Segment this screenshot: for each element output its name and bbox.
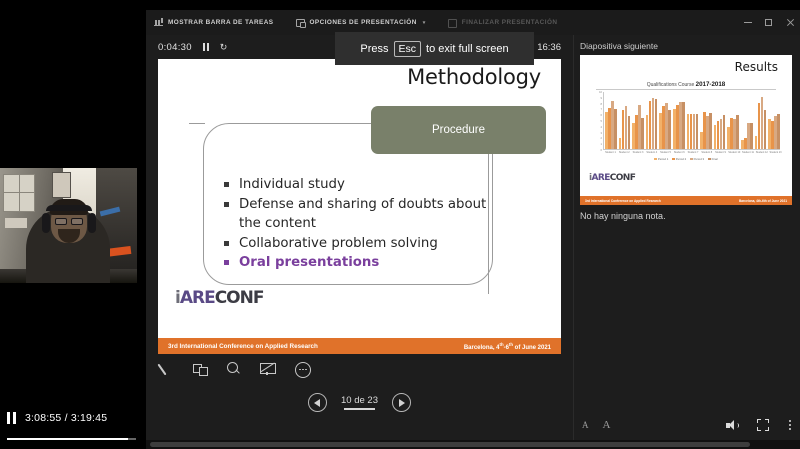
elapsed-timer: 0:04:30	[158, 42, 192, 53]
slide-counter: 10 de 23	[341, 395, 378, 406]
chart-legend-item: Final	[708, 157, 718, 161]
webcam-headphone-right	[88, 213, 96, 233]
chart-bar	[777, 114, 780, 149]
window-minimize-button[interactable]	[737, 10, 758, 35]
chart-bar-group	[700, 92, 712, 149]
window-controls	[737, 10, 800, 35]
chart-x-tick: Student 2	[618, 151, 631, 154]
chart-bar	[655, 99, 658, 149]
logo-part-2: ARE	[592, 173, 610, 183]
chart-x-tick: Student 13	[769, 151, 782, 154]
webcam-poster	[52, 172, 71, 198]
maximize-icon	[765, 19, 772, 26]
chart-legend: Period 1Period 2Period 3Final	[590, 157, 782, 161]
webcam-headphone-band	[46, 205, 92, 211]
pause-icon[interactable]	[7, 412, 16, 424]
chart-bar	[723, 115, 726, 149]
chart-title: Qualifications Course 2017-2018	[590, 81, 782, 88]
video-progress-fill	[7, 438, 128, 440]
chart-title-rule	[596, 89, 776, 90]
chart-bar-group	[741, 92, 753, 149]
webcam-glasses-right	[71, 218, 83, 225]
chart-bar-group	[687, 92, 699, 149]
window-maximize-button[interactable]	[758, 10, 779, 35]
chart-bar	[750, 123, 753, 149]
connector-stub	[189, 123, 205, 124]
toolbar-show-taskbar-label: MOSTRAR BARRA DE TAREAS	[168, 19, 274, 26]
legend-label: Period 2	[676, 157, 686, 161]
video-current-time: 3:08:55	[25, 412, 61, 424]
iareconf-logo: iARECONF	[589, 173, 635, 183]
chart-title-prefix: Qualifications Course	[647, 82, 696, 88]
list-item: Defense and sharing of doubts about the …	[224, 195, 494, 234]
timer-pause-button[interactable]	[203, 43, 209, 51]
next-slide-panel: Diapositiva siguiente Results Qualificat…	[573, 35, 800, 440]
chart-y-tick: 2	[601, 137, 602, 140]
speaker-notes[interactable]: No hay ninguna nota.	[580, 211, 794, 221]
legend-label: Final	[712, 157, 718, 161]
chart-y-tick: 10	[599, 91, 602, 94]
legend-swatch	[708, 158, 711, 161]
speaker-icon[interactable]	[726, 420, 738, 431]
pen-icon[interactable]	[158, 361, 175, 378]
slide-counter-underline	[344, 408, 375, 410]
current-slide[interactable]: Methodology Procedure Individual study	[158, 59, 561, 354]
chart-bar	[668, 110, 671, 149]
exit-fullscreen-toast: Press Esc to exit full screen	[335, 32, 534, 65]
chart-y-tick: 5	[601, 120, 602, 123]
chart-x-tick: Student 3	[632, 151, 645, 154]
presenter-view-body: 0:04:30 ↻ 16:36 Methodology Procedure	[146, 35, 800, 440]
next-slide-title: Results	[735, 60, 778, 74]
footer-location-date: Barcelona, 4th-6th of June 2021	[739, 199, 787, 203]
slide-navigation: 10 de 23	[146, 393, 573, 412]
chart-x-tick: Student 12	[755, 151, 768, 154]
logo-part-2: ARE	[180, 288, 215, 308]
taskbar-icon	[154, 18, 163, 27]
bullet-square-icon	[224, 241, 229, 246]
results-chart: Qualifications Course 2017-2018 10987654…	[590, 81, 782, 179]
procedure-label: Procedure	[432, 124, 485, 136]
legend-swatch	[672, 158, 675, 161]
toast-text-after: to exit full screen	[426, 43, 509, 55]
recording-video-pane[interactable]: 3:08:55 / 3:19:45	[0, 0, 146, 449]
toolbar-show-taskbar[interactable]: MOSTRAR BARRA DE TAREAS	[154, 18, 274, 27]
chevron-down-icon: ▾	[423, 20, 426, 26]
bullet-text: Oral presentations	[239, 253, 379, 273]
chart-bar	[641, 118, 644, 149]
previous-slide-icon[interactable]	[308, 393, 327, 412]
bullet-square-icon	[224, 182, 229, 187]
wall-clock: 16:36	[537, 42, 561, 53]
decrease-font-button[interactable]: A	[582, 420, 589, 430]
footer-month-year: of June 2021	[513, 345, 551, 351]
more-options-icon[interactable]	[294, 361, 311, 378]
chart-y-tick: 4	[601, 126, 602, 129]
kebab-menu-icon[interactable]	[788, 419, 792, 431]
chart-x-tick: Student 1	[604, 151, 617, 154]
video-player-controls[interactable]: 3:08:55 / 3:19:45	[0, 405, 146, 449]
toast-text-before: Press	[360, 43, 388, 55]
video-progress-track[interactable]	[7, 438, 136, 440]
webcam-note	[5, 218, 27, 228]
horizontal-scrollbar[interactable]	[146, 440, 800, 449]
presenter-tools	[158, 361, 311, 378]
chart-legend-item: Period 2	[672, 157, 686, 161]
bullet-square-icon	[224, 202, 229, 207]
footer-conference-name: 3rd International Conference on Applied …	[168, 343, 318, 350]
bullet-square-icon	[224, 260, 229, 265]
iareconf-logo: iARECONF	[175, 288, 263, 308]
webcam-glasses-left	[55, 218, 67, 225]
webcam-headphone-left	[42, 213, 50, 233]
chart-bar	[614, 109, 617, 149]
exit-fullscreen-icon[interactable]	[757, 419, 769, 431]
window-close-button[interactable]	[779, 10, 800, 35]
next-slide-thumbnail[interactable]: Results Qualifications Course 2017-2018 …	[580, 55, 792, 205]
chart-x-tick: Student 10	[728, 151, 741, 154]
chart-bar-groups	[605, 92, 780, 149]
chart-bar	[709, 113, 712, 149]
chart-y-tick: 1	[601, 143, 602, 146]
chart-x-tick: Student 8	[700, 151, 713, 154]
notes-controls: A A	[574, 414, 800, 436]
next-slide-icon[interactable]	[392, 393, 411, 412]
increase-font-button[interactable]: A	[603, 419, 611, 431]
end-presentation-icon	[448, 18, 457, 27]
list-item: Oral presentations	[224, 253, 494, 273]
chart-y-tick: 3	[601, 132, 602, 135]
toolbar-end-presentation[interactable]: FINALIZAR PRESENTACIÓN	[448, 18, 558, 27]
procedure-box: Procedure	[371, 106, 546, 154]
esc-key-badge: Esc	[394, 41, 422, 57]
toolbar-end-presentation-label: FINALIZAR PRESENTACIÓN	[462, 19, 558, 26]
chart-legend-item: Period 1	[654, 157, 668, 161]
chart-x-tick: Student 4	[645, 151, 658, 154]
close-icon	[786, 19, 794, 27]
logo-part-3: CONF	[610, 173, 636, 183]
chart-x-axis-labels: Student 1Student 2Student 3Student 4Stud…	[604, 151, 782, 154]
chart-bar	[682, 102, 685, 149]
legend-label: Period 1	[658, 157, 668, 161]
bullet-list: Individual study Defense and sharing of …	[224, 175, 494, 273]
list-item: Collaborative problem solving	[224, 234, 494, 254]
bullet-text: Collaborative problem solving	[239, 234, 438, 254]
chart-legend-item: Period 3	[690, 157, 704, 161]
chart-x-tick: Student 6	[673, 151, 686, 154]
chart-bar	[628, 116, 631, 149]
slide-title: Methodology	[407, 65, 541, 89]
screen-root: 3:08:55 / 3:19:45 MOSTRAR BARRA DE TAREA…	[0, 0, 800, 449]
chart-bar-group	[727, 92, 739, 149]
footer-city: Barcelona, 4	[464, 345, 500, 351]
chart-bar	[764, 110, 767, 149]
slide-footer: 3rd International Conference on Applied …	[158, 338, 561, 354]
chart-bar-group	[659, 92, 671, 149]
chart-x-tick: Student 9	[714, 151, 727, 154]
legend-swatch	[654, 158, 657, 161]
toolbar-presentation-options[interactable]: OPCIONES DE PRESENTACIÓN ▾	[296, 18, 426, 27]
chart-bar-group	[646, 92, 658, 149]
chart-bar-group	[605, 92, 617, 149]
chart-bar-group	[673, 92, 685, 149]
chart-bar	[696, 114, 699, 149]
slide-counter-group: 10 de 23	[341, 395, 378, 410]
webcam-video	[0, 168, 137, 283]
webcam-window	[3, 174, 35, 212]
chart-bar-group	[619, 92, 631, 149]
chart-bar-group	[632, 92, 644, 149]
powerpoint-presenter-window: MOSTRAR BARRA DE TAREAS OPCIONES DE PRES…	[146, 10, 800, 440]
logo-part-3: CONF	[215, 288, 264, 308]
chart-title-years: 2017-2018	[696, 81, 726, 88]
footer-conference-name: 3rd International Conference on Applied …	[585, 199, 661, 203]
list-item: Individual study	[224, 175, 494, 195]
next-slide-label: Diapositiva siguiente	[574, 35, 800, 55]
video-time-display: 3:08:55 / 3:19:45	[25, 412, 107, 424]
chart-bar-group	[755, 92, 767, 149]
magnifier-icon[interactable]	[226, 361, 243, 378]
legend-label: Period 3	[694, 157, 704, 161]
chart-y-axis: 109876543210	[592, 92, 603, 150]
pause-icon	[203, 43, 209, 51]
chart-x-tick: Student 7	[687, 151, 700, 154]
chart-y-tick: 7	[601, 108, 602, 111]
toolbar-presentation-options-label: OPCIONES DE PRESENTACIÓN	[310, 19, 417, 26]
next-slide-footer: 3rd International Conference on Applied …	[580, 196, 792, 205]
chart-plot-area: 109876543210	[603, 92, 780, 150]
chart-y-tick: 0	[601, 149, 602, 152]
bullet-text: Defense and sharing of doubts about the …	[239, 195, 494, 234]
video-total-time: 3:19:45	[71, 412, 107, 424]
blank-screen-icon[interactable]	[260, 361, 277, 378]
chart-bar-group	[714, 92, 726, 149]
slide-grid-icon[interactable]	[192, 361, 209, 378]
scrollbar-thumb[interactable]	[150, 442, 750, 447]
legend-swatch	[690, 158, 693, 161]
current-slide-region: 0:04:30 ↻ 16:36 Methodology Procedure	[146, 35, 573, 440]
chart-x-tick: Student 5	[659, 151, 672, 154]
chart-y-tick: 6	[601, 114, 602, 117]
chart-y-tick: 9	[601, 97, 602, 100]
chart-bar-group	[768, 92, 780, 149]
presentation-options-icon	[296, 18, 305, 27]
chart-x-tick: Student 11	[742, 151, 755, 154]
footer-location-date: Barcelona, 4th-6th of June 2021	[464, 342, 551, 351]
chart-bar	[736, 115, 739, 149]
bullet-text: Individual study	[239, 175, 345, 195]
minimize-icon	[744, 22, 752, 23]
chart-y-tick: 8	[601, 103, 602, 106]
restart-icon[interactable]: ↻	[220, 42, 228, 53]
